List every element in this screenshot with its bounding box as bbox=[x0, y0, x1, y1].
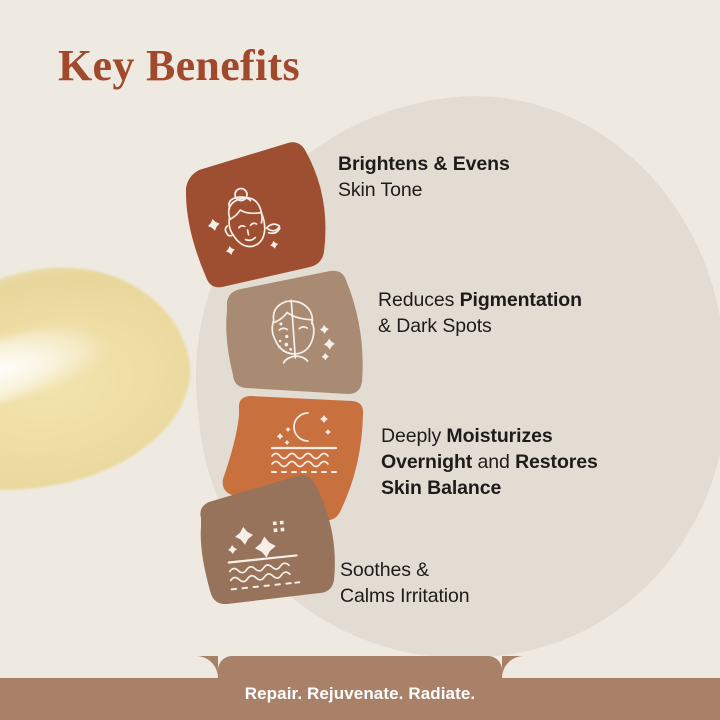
benefit-label-2: Reduces Pigmentation & Dark Spots bbox=[378, 288, 582, 340]
benefit-2-regular: Reduces bbox=[378, 289, 460, 311]
benefit-1-bold: Brightens bbox=[338, 153, 428, 175]
benefit-segment-4[interactable] bbox=[200, 475, 335, 604]
benefit-label-3: Deeply Moisturizes Overnight and Restore… bbox=[381, 424, 598, 502]
benefit-3-regular: Deeply bbox=[381, 425, 446, 447]
benefit-3-regular2: and bbox=[472, 451, 515, 473]
footer-tagline: Repair. Rejuvenate. Radiate. bbox=[0, 684, 720, 704]
footer-fillet-left bbox=[196, 656, 218, 678]
benefit-4-regular: Soothes & Calms Irritation bbox=[340, 559, 470, 607]
infographic-canvas: Key Benefits bbox=[0, 0, 720, 720]
benefit-1-bold2: Evens bbox=[453, 153, 510, 175]
benefit-label-1: Brightens & Evens Skin Tone bbox=[338, 152, 510, 204]
benefit-segment-2[interactable] bbox=[226, 271, 362, 394]
benefit-1-regular: Skin Tone bbox=[338, 179, 422, 201]
benefit-segment-1[interactable] bbox=[186, 142, 325, 287]
benefit-2-regular2: & Dark Spots bbox=[378, 315, 492, 337]
benefit-2-bold: Pigmentation bbox=[460, 289, 582, 311]
footer-fillet-right bbox=[502, 656, 524, 678]
benefit-1-amp: & bbox=[428, 153, 453, 175]
footer-banner: Repair. Rejuvenate. Radiate. bbox=[0, 656, 720, 720]
benefit-arc bbox=[0, 0, 720, 720]
arc-segments-svg bbox=[0, 0, 720, 720]
benefit-label-4: Soothes & Calms Irritation bbox=[340, 558, 470, 610]
